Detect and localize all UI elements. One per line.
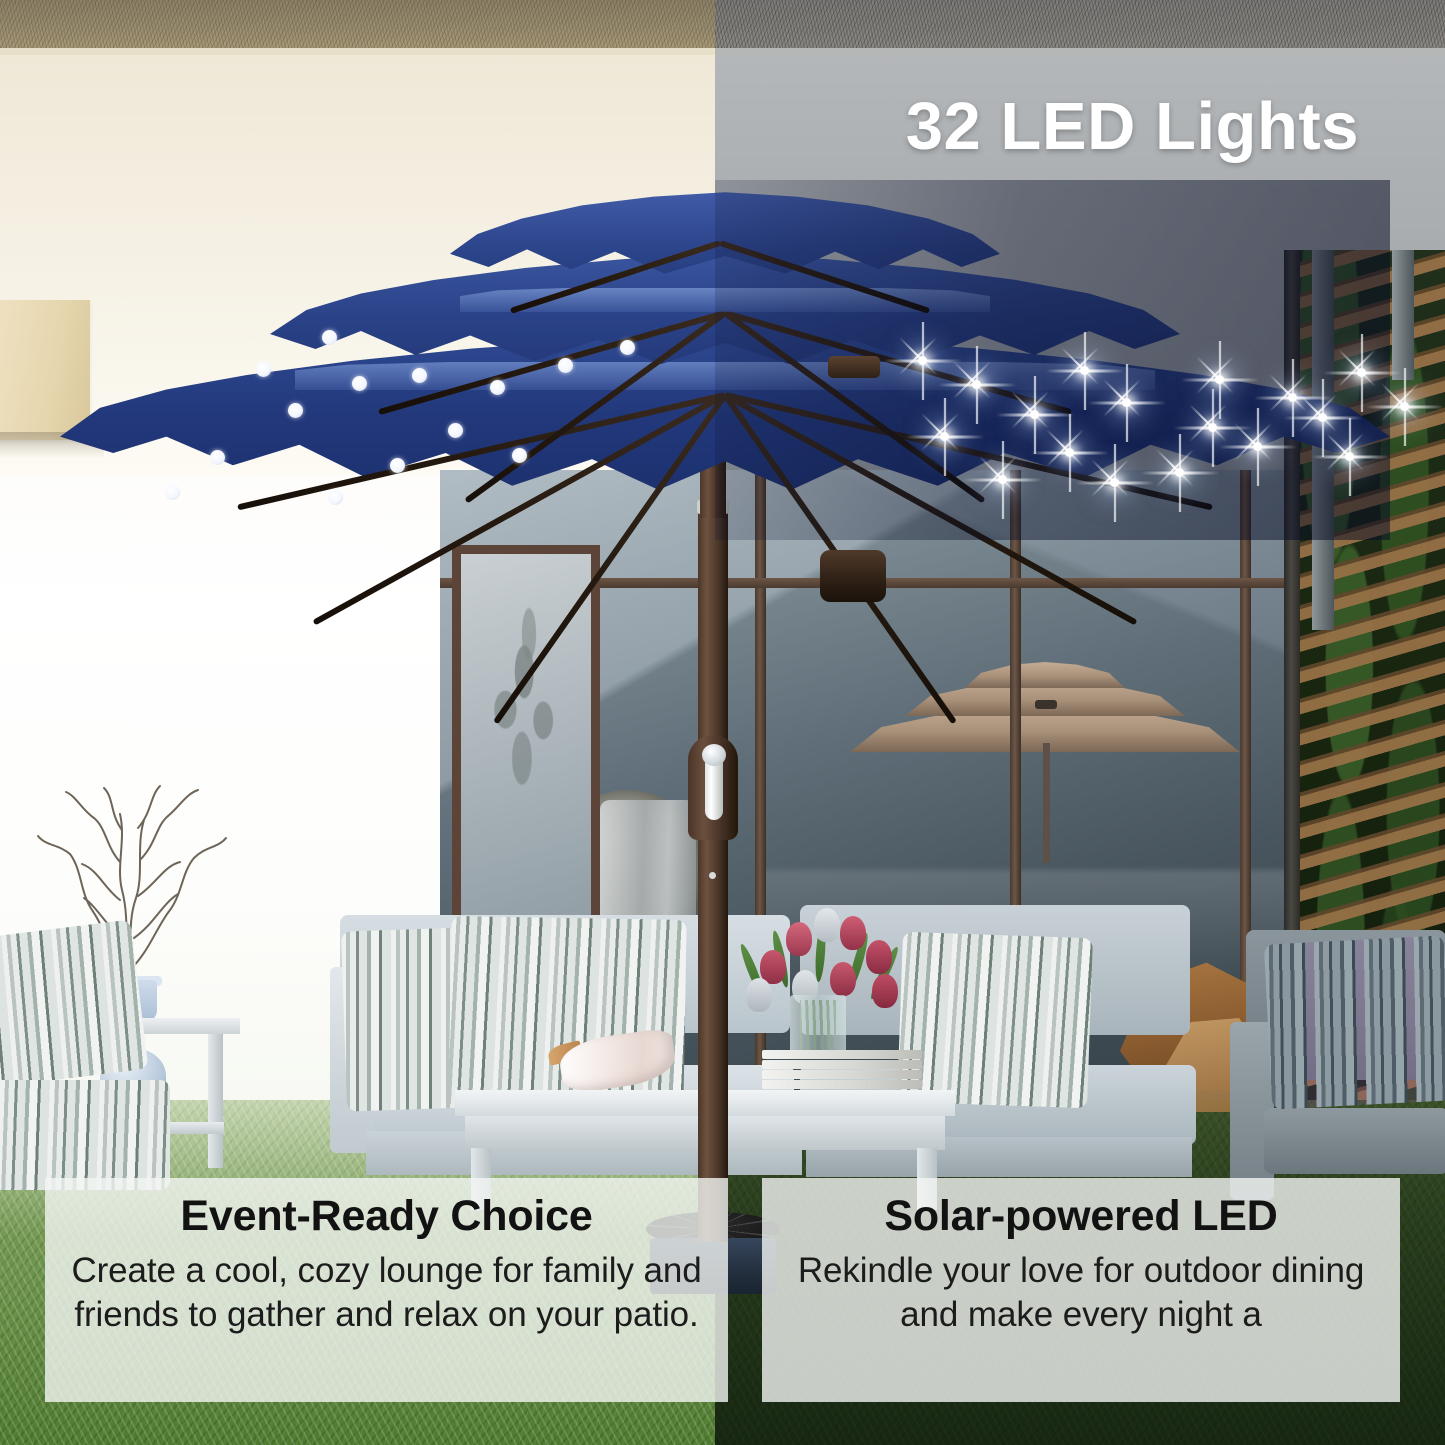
led-light-glow <box>1357 368 1366 377</box>
caption-panel-right: Solar-powered LED Rekindle your love for… <box>762 1178 1400 1402</box>
led-light-glow <box>1318 413 1327 422</box>
headline-text: 32 LED Lights <box>906 88 1359 165</box>
cushion-far-left <box>0 1080 170 1190</box>
led-light-glow <box>1080 366 1089 375</box>
background-umbrella-tier-1 <box>965 662 1125 688</box>
striped-pillow-3 <box>897 932 1093 1109</box>
tulip-pink <box>866 940 892 974</box>
umbrella-finial <box>828 356 880 378</box>
led-light <box>322 330 337 345</box>
led-light <box>448 423 463 438</box>
magazine <box>762 1080 922 1089</box>
led-light-glow <box>998 475 1007 484</box>
caption-panel-left: Event-Ready Choice Create a cool, cozy l… <box>45 1178 728 1402</box>
caption-right-body: Rekindle your love for outdoor dining an… <box>778 1249 1384 1337</box>
magazine <box>762 1060 922 1069</box>
striped-pillow-4 <box>1264 935 1445 1109</box>
interior-silver-object <box>600 800 696 930</box>
led-light <box>210 450 225 465</box>
umbrella-hub <box>820 550 886 602</box>
ceiling-texture-day <box>0 0 715 48</box>
led-light-glow <box>1122 398 1131 407</box>
led-light <box>288 403 303 418</box>
led-light <box>512 448 527 463</box>
led-light <box>328 490 343 505</box>
led-light-glow <box>1400 402 1409 411</box>
armchair-seat <box>1264 1108 1445 1174</box>
led-light-glow <box>1030 410 1039 419</box>
screen-post-2 <box>1392 250 1414 380</box>
caption-left-title: Event-Ready Choice <box>61 1192 712 1240</box>
led-light-glow <box>1215 375 1224 384</box>
tulip-pink <box>786 922 812 956</box>
led-light-glow <box>1253 442 1262 451</box>
magazine-stack <box>762 1050 922 1090</box>
led-light-glow <box>1175 468 1184 477</box>
led-light <box>490 380 505 395</box>
umbrella-crank-knob[interactable] <box>702 744 726 766</box>
umbrella-tilt-button[interactable] <box>709 872 716 879</box>
tulip-pink <box>830 962 856 996</box>
glass-vase <box>790 995 846 1057</box>
ceiling-edge-day <box>0 48 715 55</box>
caption-left-body: Create a cool, cozy lounge for family an… <box>61 1249 712 1337</box>
led-light <box>558 358 573 373</box>
led-light <box>390 458 405 473</box>
ceiling-texture-night <box>715 0 1445 48</box>
background-umbrella <box>850 648 1240 768</box>
tulip-white <box>746 978 772 1012</box>
magazine <box>762 1070 922 1079</box>
led-light <box>352 376 367 391</box>
side-table-leg-2 <box>208 1034 223 1168</box>
tulip-pink <box>872 974 898 1008</box>
led-light-glow <box>1065 448 1074 457</box>
tulip-pink <box>840 916 866 950</box>
background-umbrella-pole <box>1043 743 1050 863</box>
background-umbrella-finial <box>1035 700 1057 709</box>
caption-right-title: Solar-powered LED <box>778 1192 1384 1240</box>
led-light-glow <box>972 380 981 389</box>
led-light <box>620 340 635 355</box>
led-light <box>256 362 271 377</box>
led-light-glow <box>1345 452 1354 461</box>
led-light-glow <box>1208 423 1217 432</box>
magazine <box>762 1050 922 1059</box>
product-image-canvas: 32 LED Lights Event-Ready Choice Create … <box>0 0 1445 1445</box>
led-light-glow <box>1288 393 1297 402</box>
ceiling-edge-night <box>715 48 1445 55</box>
led-light-glow <box>1110 478 1119 487</box>
patio-umbrella-canopy <box>60 180 1390 540</box>
pillow-far-left <box>0 920 148 1091</box>
led-light <box>165 485 180 500</box>
led-light-glow <box>918 356 927 365</box>
tulip-white <box>814 908 840 942</box>
led-light <box>412 368 427 383</box>
led-light-glow <box>940 432 949 441</box>
